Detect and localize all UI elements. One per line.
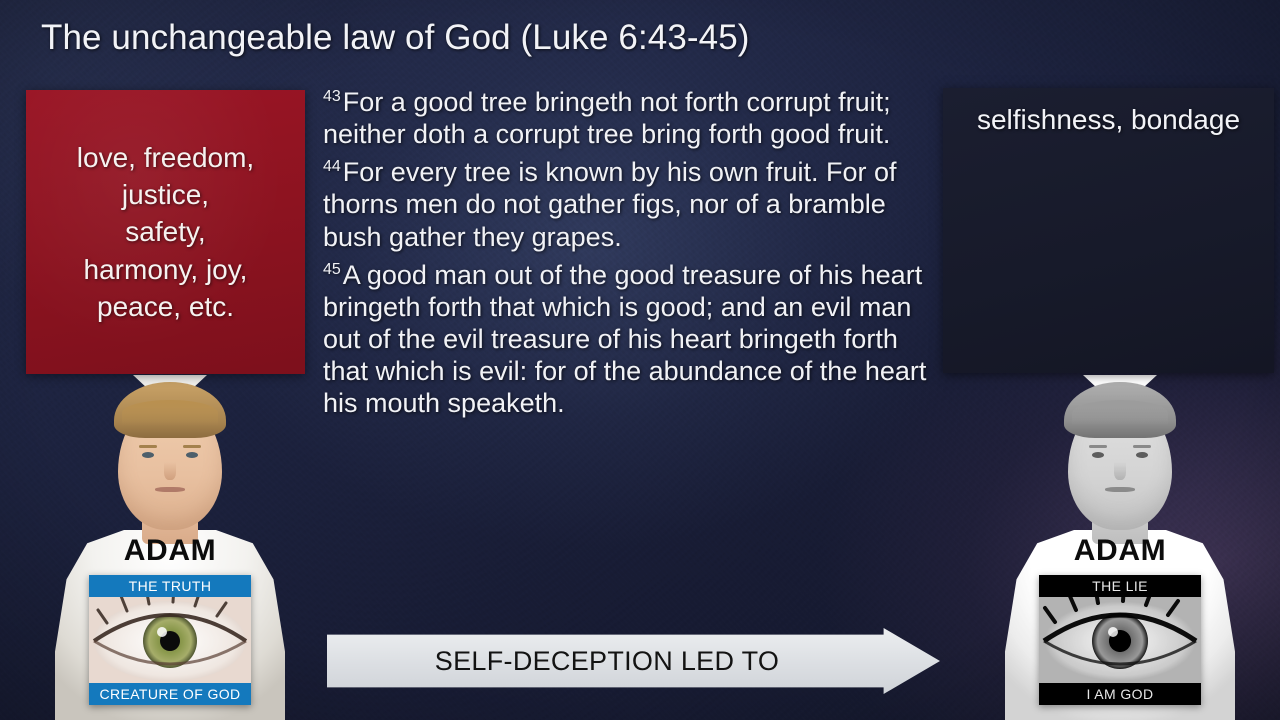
slide-canvas: The unchangeable law of God (Luke 6:43-4… [0, 0, 1280, 720]
virtues-line: safety, [125, 213, 205, 250]
right-figure-name: ADAM [1005, 534, 1235, 568]
verse-text: For a good tree bringeth not forth corru… [323, 87, 891, 149]
truth-card-top-label: THE TRUTH [89, 575, 251, 597]
lie-card-top-label: THE LIE [1039, 575, 1201, 597]
virtues-line: peace, etc. [97, 288, 234, 325]
portrait-eye-left [142, 452, 154, 458]
verse-number: 45 [323, 261, 341, 278]
truth-eye-card: THE TRUTH CREATURE OF GOD [89, 575, 251, 705]
truth-card-bottom-label: CREATURE OF GOD [89, 683, 251, 705]
lie-eye-card: THE LIE I AM GOD [1039, 575, 1201, 705]
lie-card-bottom-label: I AM GOD [1039, 683, 1201, 705]
left-figure-name: ADAM [55, 534, 285, 568]
portrait-eye-left [1092, 452, 1104, 458]
portrait-nose [1114, 462, 1126, 480]
portrait-hair [114, 382, 226, 438]
scripture-block: 43For a good tree bringeth not forth cor… [323, 86, 937, 425]
portrait-hair [1064, 382, 1176, 438]
page-title: The unchangeable law of God (Luke 6:43-4… [41, 18, 750, 58]
verse-43: 43For a good tree bringeth not forth cor… [323, 86, 937, 150]
verse-number: 44 [323, 158, 341, 175]
virtues-line: justice, [122, 176, 209, 213]
virtues-line: harmony, joy, [84, 251, 248, 288]
verse-text: For every tree is known by his own fruit… [323, 157, 897, 251]
verse-text: A good man out of the good treasure of h… [323, 260, 926, 419]
portrait-eye-right [186, 452, 198, 458]
verse-44: 44For every tree is known by his own fru… [323, 156, 937, 252]
portrait-nose [164, 462, 176, 480]
virtues-box: love, freedom, justice, safety, harmony,… [26, 90, 305, 374]
verse-number: 43 [323, 88, 341, 105]
portrait-adam-lie: ADAM [1005, 375, 1235, 720]
portrait-eye-right [1136, 452, 1148, 458]
portrait-eyebrow-right [1133, 445, 1151, 448]
portrait-mouth [155, 487, 185, 492]
portrait-eyebrow-right [183, 445, 201, 448]
vices-line: selfishness, bondage [953, 102, 1264, 138]
vices-box: selfishness, bondage [943, 88, 1274, 373]
self-deception-arrow [327, 628, 940, 694]
portrait-eyebrow-left [1089, 445, 1107, 448]
portrait-eyebrow-left [139, 445, 157, 448]
portrait-adam-truth: ADAM [55, 375, 285, 720]
portrait-mouth [1105, 487, 1135, 492]
virtues-line: love, freedom, [77, 139, 254, 176]
verse-45: 45A good man out of the good treasure of… [323, 259, 937, 420]
